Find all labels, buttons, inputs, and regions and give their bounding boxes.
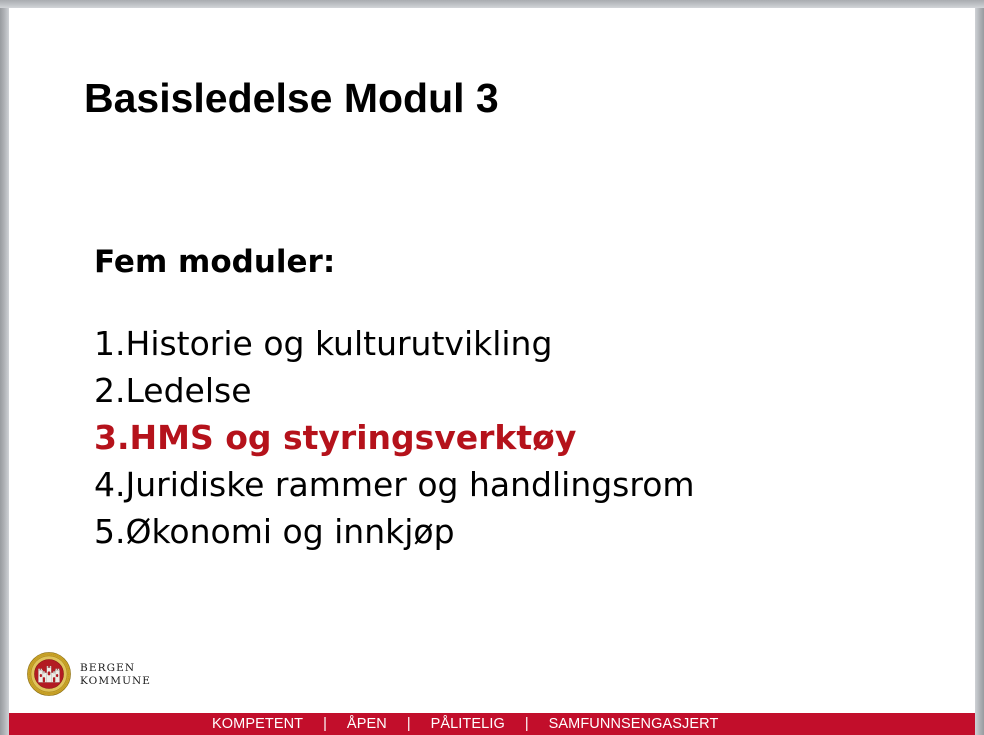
slide-frame: Basisledelse Modul 3 Fem moduler: 1.Hist… [0,0,984,735]
list-item: 1.Historie og kulturutvikling [94,320,894,367]
slide-body: Fem moduler: 1.Historie og kulturutvikli… [94,240,894,555]
brand-wordmark: BERGEN KOMMUNE [80,660,151,688]
value-bar-inner: KOMPETENT | ÅPEN | PÅLITELIG | SAMFUNNSE… [212,716,718,732]
slide-canvas: Basisledelse Modul 3 Fem moduler: 1.Hist… [9,8,975,735]
list-item-number: 1. [94,324,126,363]
list-item: 4.Juridiske rammer og handlingsrom [94,461,894,508]
list-item-number: 5. [94,512,126,551]
value-bar: KOMPETENT | ÅPEN | PÅLITELIG | SAMFUNNSE… [9,713,975,735]
value-word-palitelig: PÅLITELIG [431,716,505,732]
list-item: 5.Økonomi og innkjøp [94,508,894,555]
body-heading: Fem moduler: [94,240,894,284]
list-item-number: 3. [94,418,130,457]
list-item-label: Ledelse [126,371,252,410]
value-separator: | [505,716,549,732]
list-item-number: 4. [94,465,126,504]
value-separator: | [303,716,347,732]
list-item-label: HMS og styringsverktøy [130,418,577,457]
value-word-samfunnsengasjert: SAMFUNNSENGASJERT [549,716,719,732]
page-title: Basisledelse Modul 3 [84,74,499,122]
brand-lockup: BERGEN KOMMUNE [27,652,151,696]
list-item-highlighted: 3.HMS og styringsverktøy [94,414,894,461]
brand-line-1: BERGEN [80,662,151,675]
list-item-label: Økonomi og innkjøp [126,512,455,551]
list-item-label: Juridiske rammer og handlingsrom [126,465,695,504]
module-list: 1.Historie og kulturutvikling 2.Ledelse … [94,320,894,555]
value-word-apen: ÅPEN [347,716,387,732]
list-item-label: Historie og kulturutvikling [126,324,553,363]
bergen-kommune-seal-icon [27,652,71,696]
brand-line-2: KOMMUNE [80,675,151,688]
list-item: 2.Ledelse [94,367,894,414]
list-item-number: 2. [94,371,126,410]
value-word-kompetent: KOMPETENT [212,716,303,732]
value-separator: | [387,716,431,732]
